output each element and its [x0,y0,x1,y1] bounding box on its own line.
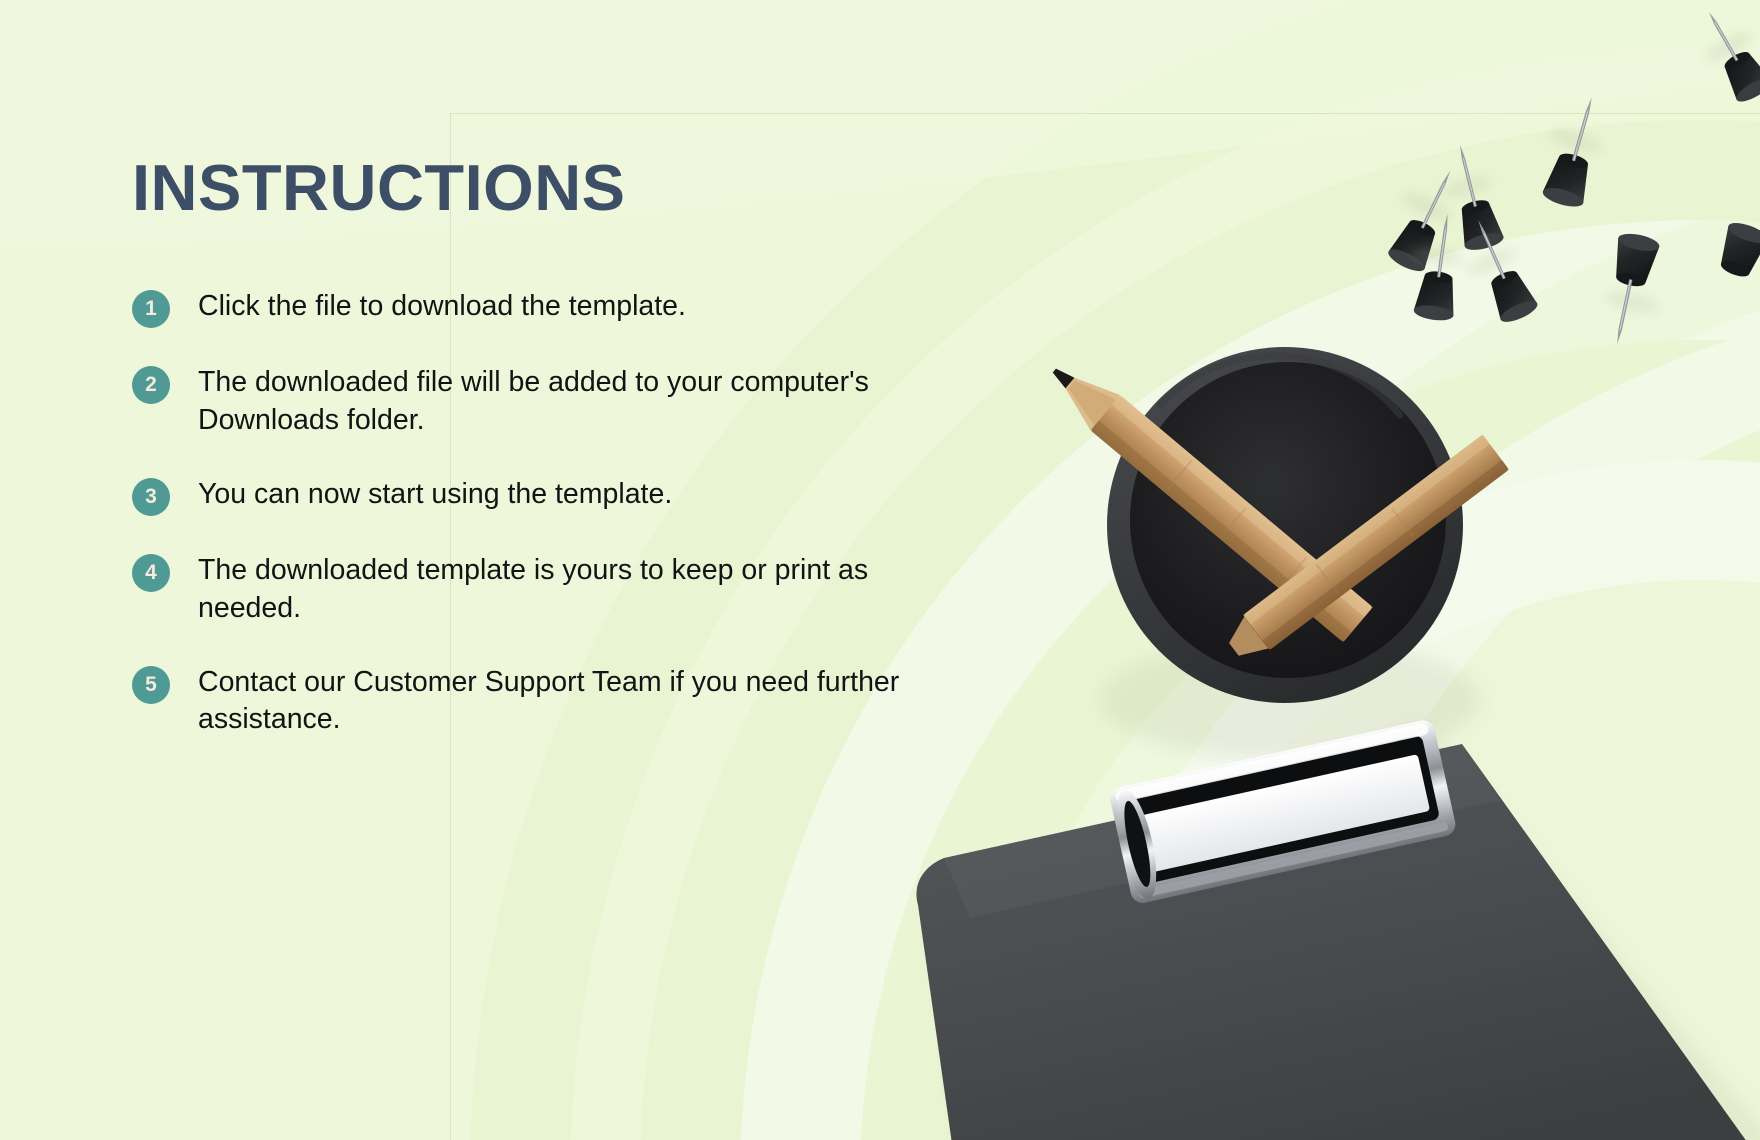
page-title: INSTRUCTIONS [132,155,952,220]
step-number-badge: 4 [132,554,170,592]
step-text: You can now start using the template. [198,476,672,514]
step-number-badge: 1 [132,290,170,328]
instruction-steps-list: 1 Click the file to download the templat… [132,288,952,739]
list-item: 4 The downloaded template is yours to ke… [132,552,952,628]
guide-line-horizontal [450,113,1760,114]
instructions-slide: INSTRUCTIONS 1 Click the file to downloa… [0,0,1760,1140]
step-number-badge: 2 [132,366,170,404]
list-item: 5 Contact our Customer Support Team if y… [132,664,952,740]
list-item: 3 You can now start using the template. [132,476,952,516]
step-text: The downloaded file will be added to you… [198,364,918,440]
step-text: The downloaded template is yours to keep… [198,552,918,628]
step-text: Click the file to download the template. [198,288,686,326]
step-text: Contact our Customer Support Team if you… [198,664,918,740]
step-number-badge: 5 [132,666,170,704]
instructions-content: INSTRUCTIONS 1 Click the file to downloa… [132,155,952,739]
list-item: 2 The downloaded file will be added to y… [132,364,952,440]
step-number-badge: 3 [132,478,170,516]
list-item: 1 Click the file to download the templat… [132,288,952,328]
